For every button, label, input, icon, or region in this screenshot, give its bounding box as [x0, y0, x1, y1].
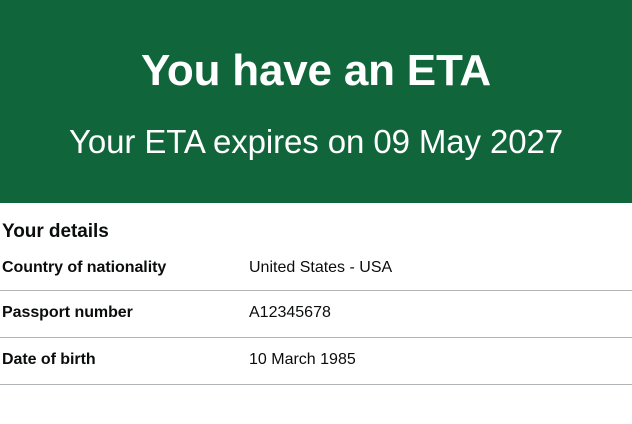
summary-value-passport-number: A12345678: [249, 303, 632, 323]
panel-expiry-subtitle: Your ETA expires on 09 May 2027: [69, 94, 563, 160]
summary-row-passport-number: Passport number A12345678: [0, 291, 632, 338]
summary-key-passport-number: Passport number: [0, 303, 209, 323]
summary-row-date-of-birth: Date of birth 10 March 1985: [0, 338, 632, 385]
summary-key-country-of-nationality: Country of nationality: [0, 258, 209, 278]
confirmation-panel: You have an ETA Your ETA expires on 09 M…: [0, 0, 632, 203]
eta-confirmation-page: You have an ETA Your ETA expires on 09 M…: [0, 0, 632, 385]
summary-key-date-of-birth: Date of birth: [0, 350, 209, 370]
details-heading: Your details: [0, 203, 632, 244]
summary-value-date-of-birth: 10 March 1985: [249, 350, 632, 370]
details-summary-list: Country of nationality United States - U…: [0, 244, 632, 385]
your-details-section: Your details Country of nationality Unit…: [0, 203, 632, 385]
summary-value-country-of-nationality: United States - USA: [249, 258, 632, 278]
page-title: You have an ETA: [141, 43, 491, 95]
summary-row-country-of-nationality: Country of nationality United States - U…: [0, 244, 632, 291]
